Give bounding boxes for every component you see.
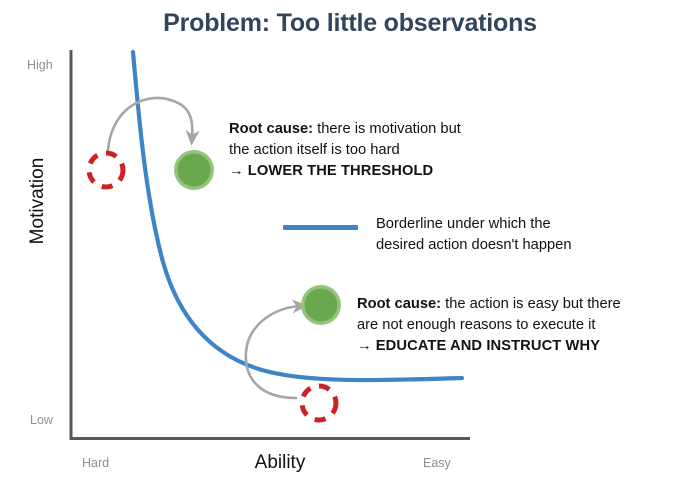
annotation-lower-action: EDUCATE AND INSTRUCT WHY — [376, 338, 600, 354]
arrow-right-icon: → — [357, 338, 376, 354]
annotation-upper-body-line2: the action itself is too hard — [229, 142, 400, 158]
annotation-root-cause-lower: Root cause: the action is easy but there… — [357, 294, 621, 357]
arrow-right-icon: → — [229, 163, 248, 179]
legend-line-swatch — [283, 225, 358, 230]
x-axis-title: Ability — [180, 452, 380, 474]
legend-label: Borderline under which the desired actio… — [376, 214, 572, 256]
marker-goal-lower-core — [305, 289, 338, 322]
annotation-lower-body-line1: the action is easy but there — [441, 296, 621, 312]
slide-canvas: Problem: Too little observations High Lo… — [0, 0, 700, 492]
marker-problem-upper-left — [89, 153, 123, 187]
annotation-upper-lead: Root cause: — [229, 121, 313, 137]
annotation-root-cause-upper: Root cause: there is motivation but the … — [229, 119, 461, 182]
y-axis-tick-high: High — [27, 58, 53, 72]
annotation-lower-body-line2: are not enough reasons to execute it — [357, 317, 595, 333]
annotation-lower-lead: Root cause: — [357, 296, 441, 312]
legend-label-line1: Borderline under which the — [376, 216, 551, 232]
x-axis-tick-hard: Hard — [82, 456, 109, 470]
legend-label-line2: desired action doesn't happen — [376, 237, 572, 253]
annotation-upper-body-line1: there is motivation but — [313, 121, 461, 137]
x-axis-tick-easy: Easy — [423, 456, 451, 470]
marker-problem-lower-right — [302, 386, 336, 420]
legend: Borderline under which the desired actio… — [283, 214, 572, 256]
marker-goal-upper-core — [178, 154, 211, 187]
y-axis-title: Motivation — [27, 141, 49, 261]
lower-transition-arrow — [246, 306, 300, 398]
y-axis-tick-low: Low — [30, 413, 53, 427]
upper-transition-arrow — [108, 98, 192, 150]
annotation-upper-action: LOWER THE THRESHOLD — [248, 163, 434, 179]
